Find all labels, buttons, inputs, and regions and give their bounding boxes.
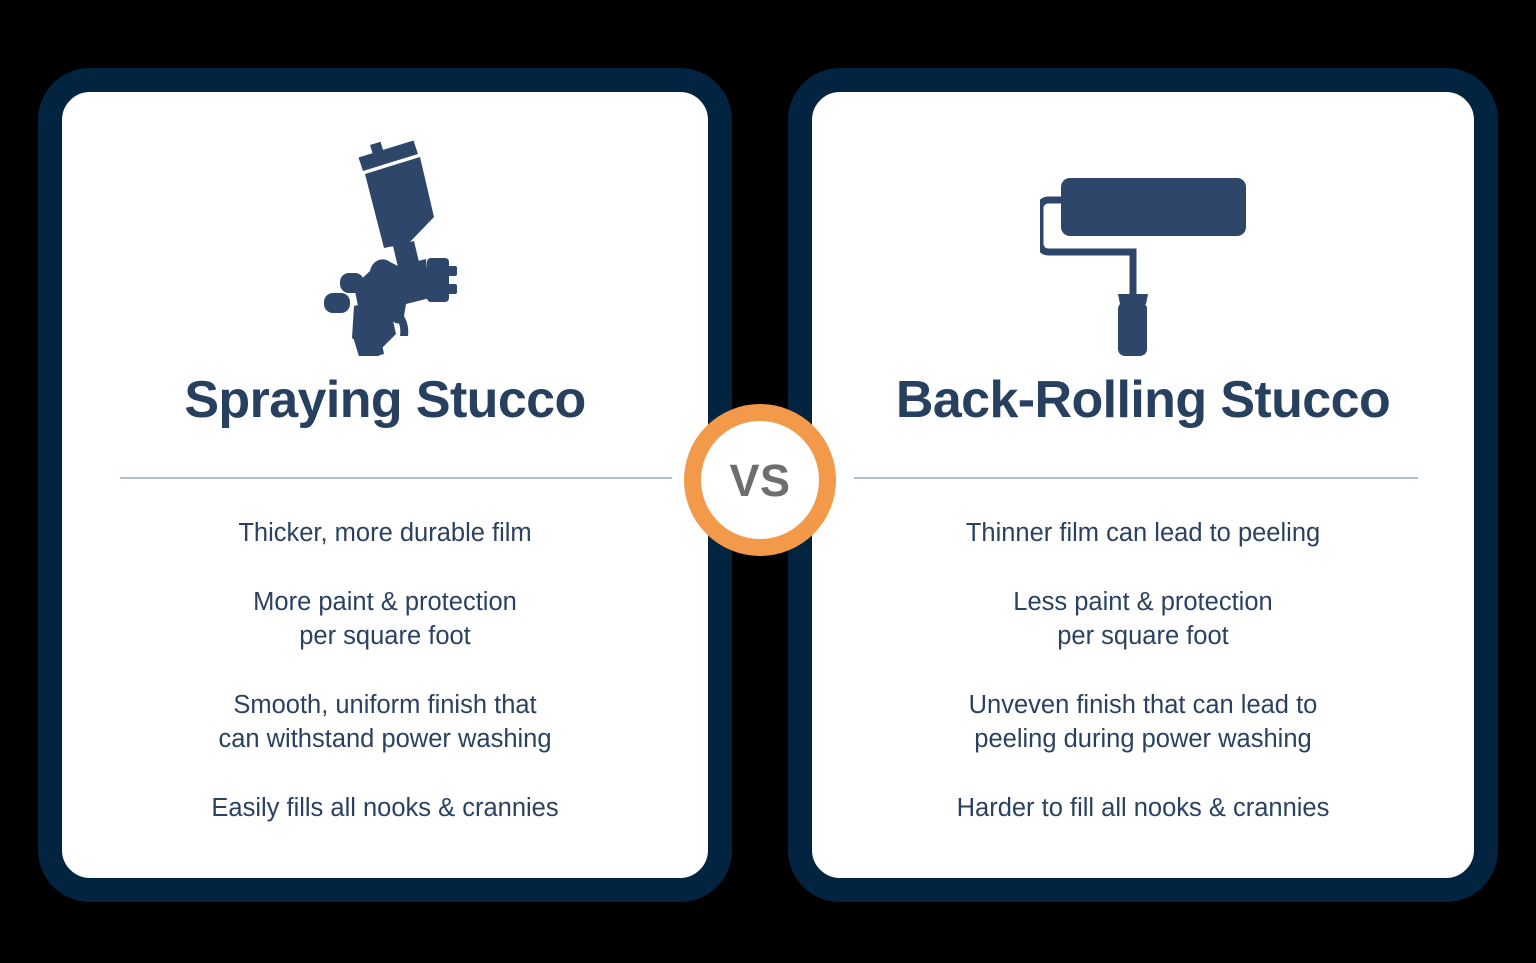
title-divider-left — [120, 477, 672, 479]
list-item: Unveven finish that can lead to peeling … — [969, 688, 1318, 756]
list-item: Thinner film can lead to peeling — [966, 516, 1320, 550]
comparison-infographic: Spraying Stucco Thicker, more durable fi… — [0, 0, 1536, 963]
page-title-back-rolling: Back-Rolling Stucco — [812, 370, 1474, 430]
list-item: Thicker, more durable film — [238, 516, 531, 550]
spray-gun-icon — [62, 138, 708, 356]
versus-label: VS — [729, 458, 790, 503]
list-item: Harder to fill all nooks & crannies — [957, 791, 1330, 825]
feature-list-back-rolling: Thinner film can lead to peeling Less pa… — [812, 516, 1474, 825]
list-item: More paint & protection per square foot — [253, 585, 517, 653]
list-item: Easily fills all nooks & crannies — [211, 791, 558, 825]
comparison-card-back-rolling: Back-Rolling Stucco Thinner film can lea… — [788, 68, 1498, 902]
list-item: Less paint & protection per square foot — [1013, 585, 1272, 653]
title-divider-right — [854, 477, 1418, 479]
paint-roller-icon — [812, 148, 1474, 356]
list-item: Smooth, uniform finish that can withstan… — [218, 688, 551, 756]
versus-badge: VS — [684, 404, 836, 556]
page-title-spraying: Spraying Stucco — [62, 370, 708, 430]
comparison-card-spraying: Spraying Stucco Thicker, more durable fi… — [38, 68, 732, 902]
feature-list-spraying: Thicker, more durable film More paint & … — [62, 516, 708, 825]
